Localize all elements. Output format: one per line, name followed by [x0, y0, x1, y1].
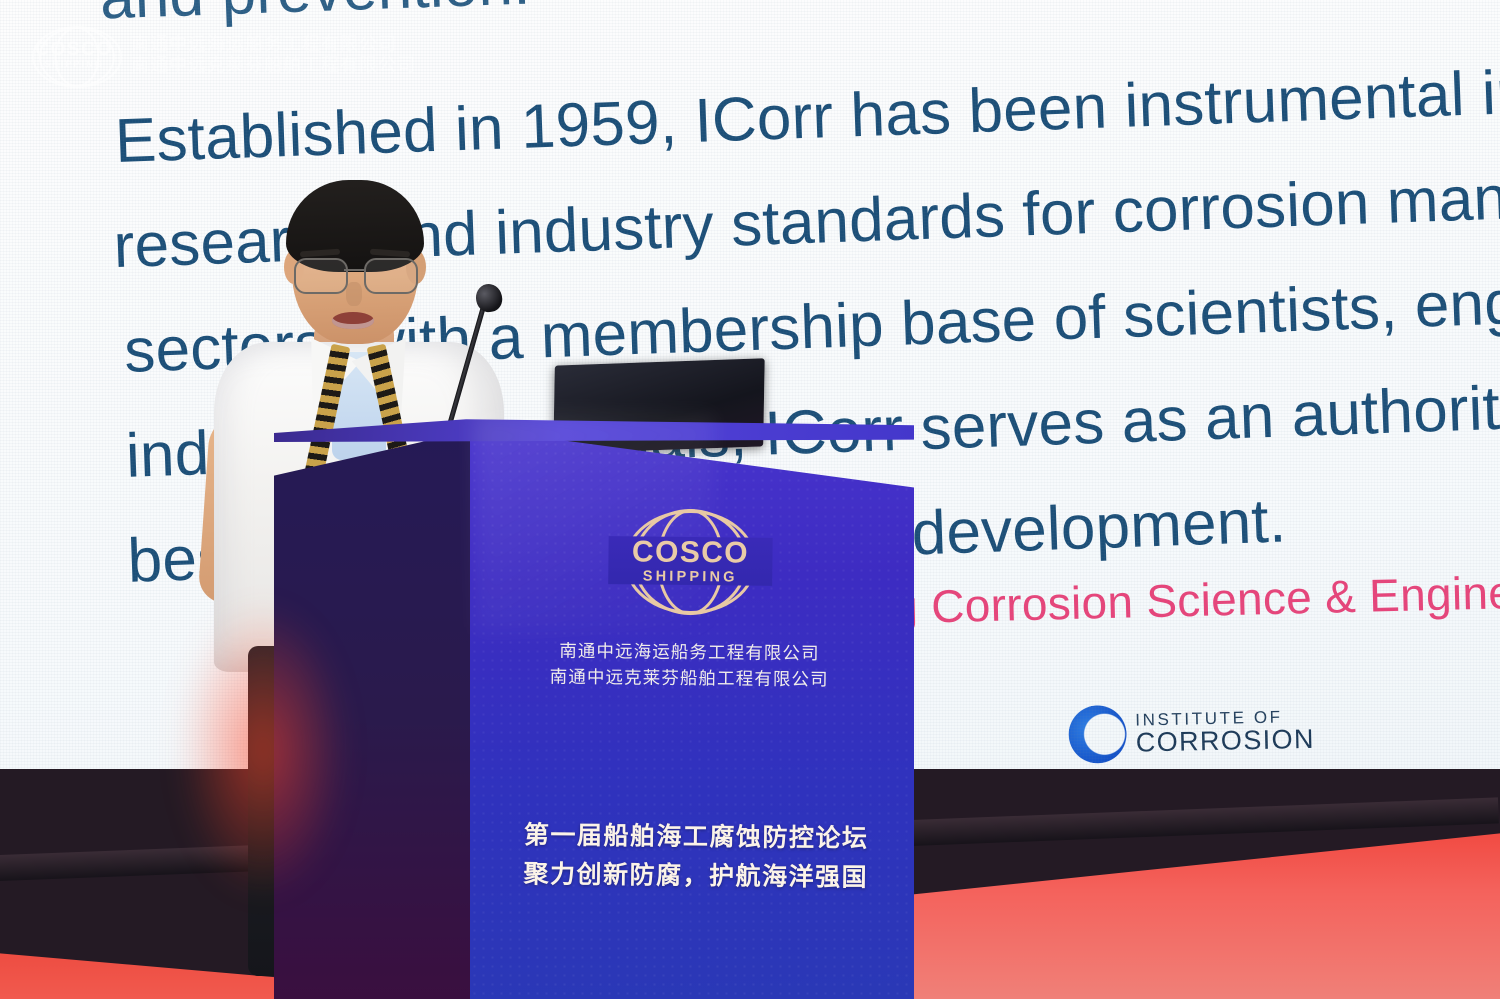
- podium: COSCO SHIPPING 南通中远海运船务工程有限公司 南通中远克莱芬船舶工…: [274, 404, 914, 999]
- podium-top-surface: [274, 412, 914, 442]
- speaker-nose: [346, 282, 362, 306]
- slide-line-0: and prevention.: [99, 0, 532, 33]
- podium-left-face: [274, 430, 474, 999]
- podium-brand-block: COSCO SHIPPING 南通中远海运船务工程有限公司 南通中远克莱芬船舶工…: [539, 508, 841, 694]
- podium-company-line-2: 南通中远克莱芬船舶工程有限公司: [539, 665, 839, 694]
- forum-slogan: 聚力创新防腐，护航海洋强国: [510, 855, 882, 898]
- icorr-word-bottom: CORROSION: [1135, 725, 1315, 756]
- shipping-wordmark: SHIPPING: [643, 569, 738, 584]
- cosco-wordmark: COSCO: [632, 537, 749, 568]
- podium-front-face: [470, 404, 914, 999]
- forum-title: 第一届船舶海工腐蚀防控论坛: [510, 816, 882, 859]
- speaker-mouth: [332, 312, 374, 329]
- cosco-globe-icon: COSCO SHIPPING: [624, 509, 757, 614]
- podium-company-names: 南通中远海运船务工程有限公司 南通中远克莱芬船舶工程有限公司: [539, 638, 840, 694]
- photo-scene: and prevention. n dedicated to the scien…: [0, 0, 1500, 999]
- institute-of-corrosion-logo: INSTITUTE OF CORROSION: [1068, 701, 1315, 764]
- icorr-crescent-icon: [1068, 705, 1127, 764]
- podium-forum-slogan: 第一届船舶海工腐蚀防控论坛 聚力创新防腐，护航海洋强国: [510, 816, 883, 897]
- podium-company-line-1: 南通中远海运船务工程有限公司: [539, 638, 839, 667]
- icorr-wordmark: INSTITUTE OF CORROSION: [1135, 707, 1315, 756]
